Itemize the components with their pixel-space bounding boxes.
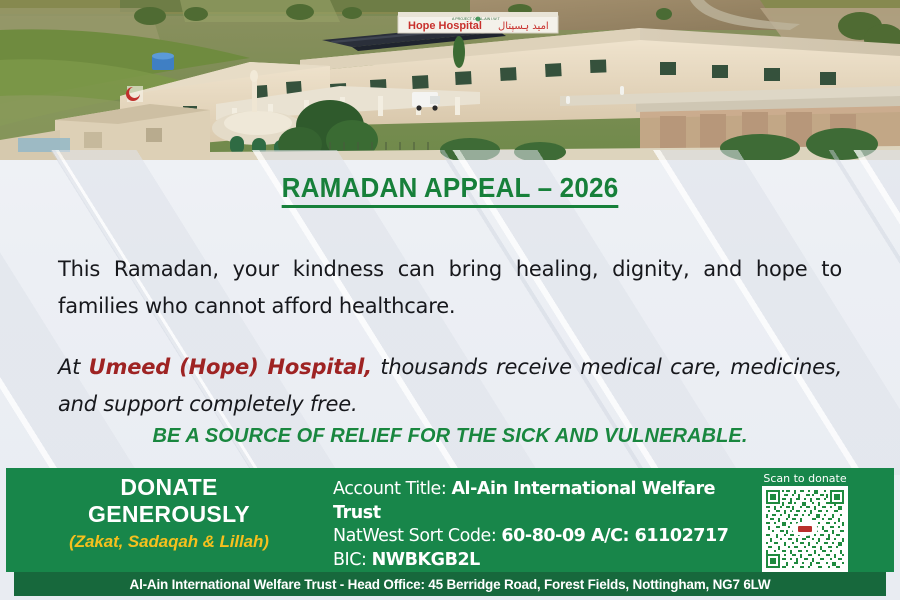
appeal-slogan: BE A SOURCE OF RELIEF FOR THE SICK AND V… — [0, 425, 900, 448]
bank-label-bic: BIC: — [333, 550, 366, 570]
bank-label-account-title: Account Title: — [333, 479, 446, 499]
qr-donation-block[interactable]: Scan to donate — [750, 472, 860, 572]
hospital-name-highlight: Umeed (Hope) Hospital, — [89, 355, 372, 379]
qr-center-logo — [792, 522, 818, 536]
hospital-aerial-illustration: Hope Hospital امید ہسپتال A PROJECT OF A… — [0, 0, 900, 160]
bank-detail-row: BIC: NWBKGB2L — [333, 549, 753, 573]
bank-detail-row: Account Title: Al-Ain International Welf… — [333, 478, 753, 525]
ramadan-appeal-poster: Hope Hospital امید ہسپتال A PROJECT OF A… — [0, 0, 900, 600]
bank-detail-row: NatWest Sort Code: 60-80-09 A/C: 6110271… — [333, 525, 753, 549]
donate-subtitle: (Zakat, Sadaqah & Lillah) — [24, 532, 314, 552]
bank-label-sort-code: NatWest Sort Code: — [333, 526, 496, 546]
svg-text:Hope Hospital: Hope Hospital — [408, 20, 482, 32]
bank-value-sort-code: 60-80-09 A/C: 61102717 — [501, 526, 728, 546]
qr-code-icon[interactable] — [762, 486, 848, 572]
donate-block: DONATE GENEROUSLY (Zakat, Sadaqah & Lill… — [24, 474, 314, 552]
page-title-text: RAMADAN APPEAL – 2026 — [282, 172, 619, 208]
donate-line-2: GENEROUSLY — [24, 500, 314, 528]
donate-line-1: DONATE — [24, 474, 314, 500]
appeal-paragraph-2: At Umeed (Hope) Hospital, thousands rece… — [58, 349, 842, 423]
svg-text:امید ہسپتال: امید ہسپتال — [498, 21, 549, 32]
appeal-paragraph-1: This Ramadan, your kindness can bring he… — [58, 251, 842, 325]
hospital-photo: Hope Hospital امید ہسپتال A PROJECT OF A… — [0, 0, 900, 160]
footer-address-text: Al-Ain International Welfare Trust - Hea… — [130, 577, 771, 592]
bank-value-bic: NWBKGB2L — [372, 550, 480, 570]
qr-caption: Scan to donate — [750, 472, 860, 485]
donation-band: DONATE GENEROUSLY (Zakat, Sadaqah & Lill… — [6, 468, 894, 572]
page-title: RAMADAN APPEAL – 2026 — [32, 172, 869, 204]
red-crescent-icon — [126, 86, 143, 102]
footer-address-bar: Al-Ain International Welfare Trust - Hea… — [14, 572, 886, 596]
paragraph-2-prefix: At — [58, 355, 89, 379]
